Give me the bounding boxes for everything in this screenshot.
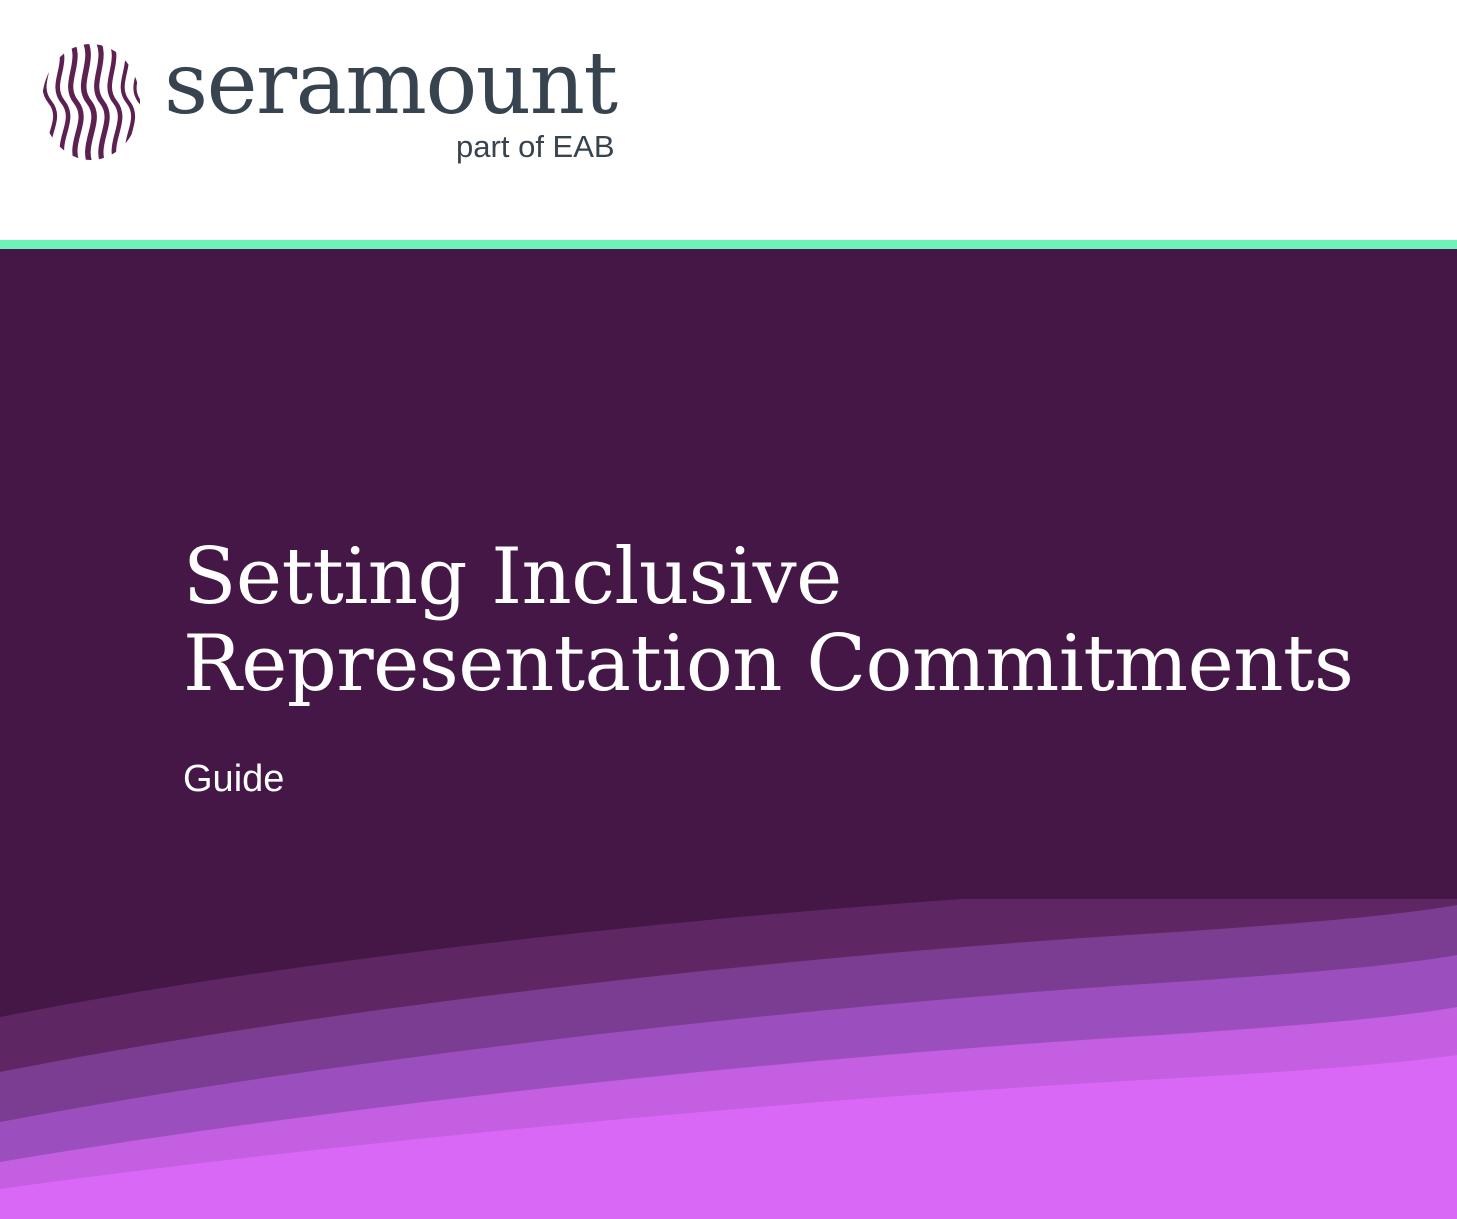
title-block: Setting Inclusive Representation Commitm… [183,534,1403,802]
seramount-swirl-mark-icon [30,38,152,166]
page-title: Setting Inclusive Representation Commitm… [183,534,1403,709]
logo-tagline: part of EAB [456,130,615,164]
title-slide: seramount part of EAB Setting Inclusive … [0,0,1457,1219]
logo-text-block: seramount part of EAB [164,38,617,164]
wordmark: seramount [164,44,617,126]
title-panel: Setting Inclusive Representation Commitm… [0,249,1457,1219]
seramount-logo: seramount part of EAB [30,38,617,166]
page-subtitle: Guide [183,709,1403,803]
decorative-wave-bands [0,899,1457,1219]
mint-accent-bar [0,240,1457,249]
slide-header: seramount part of EAB [0,0,1457,240]
